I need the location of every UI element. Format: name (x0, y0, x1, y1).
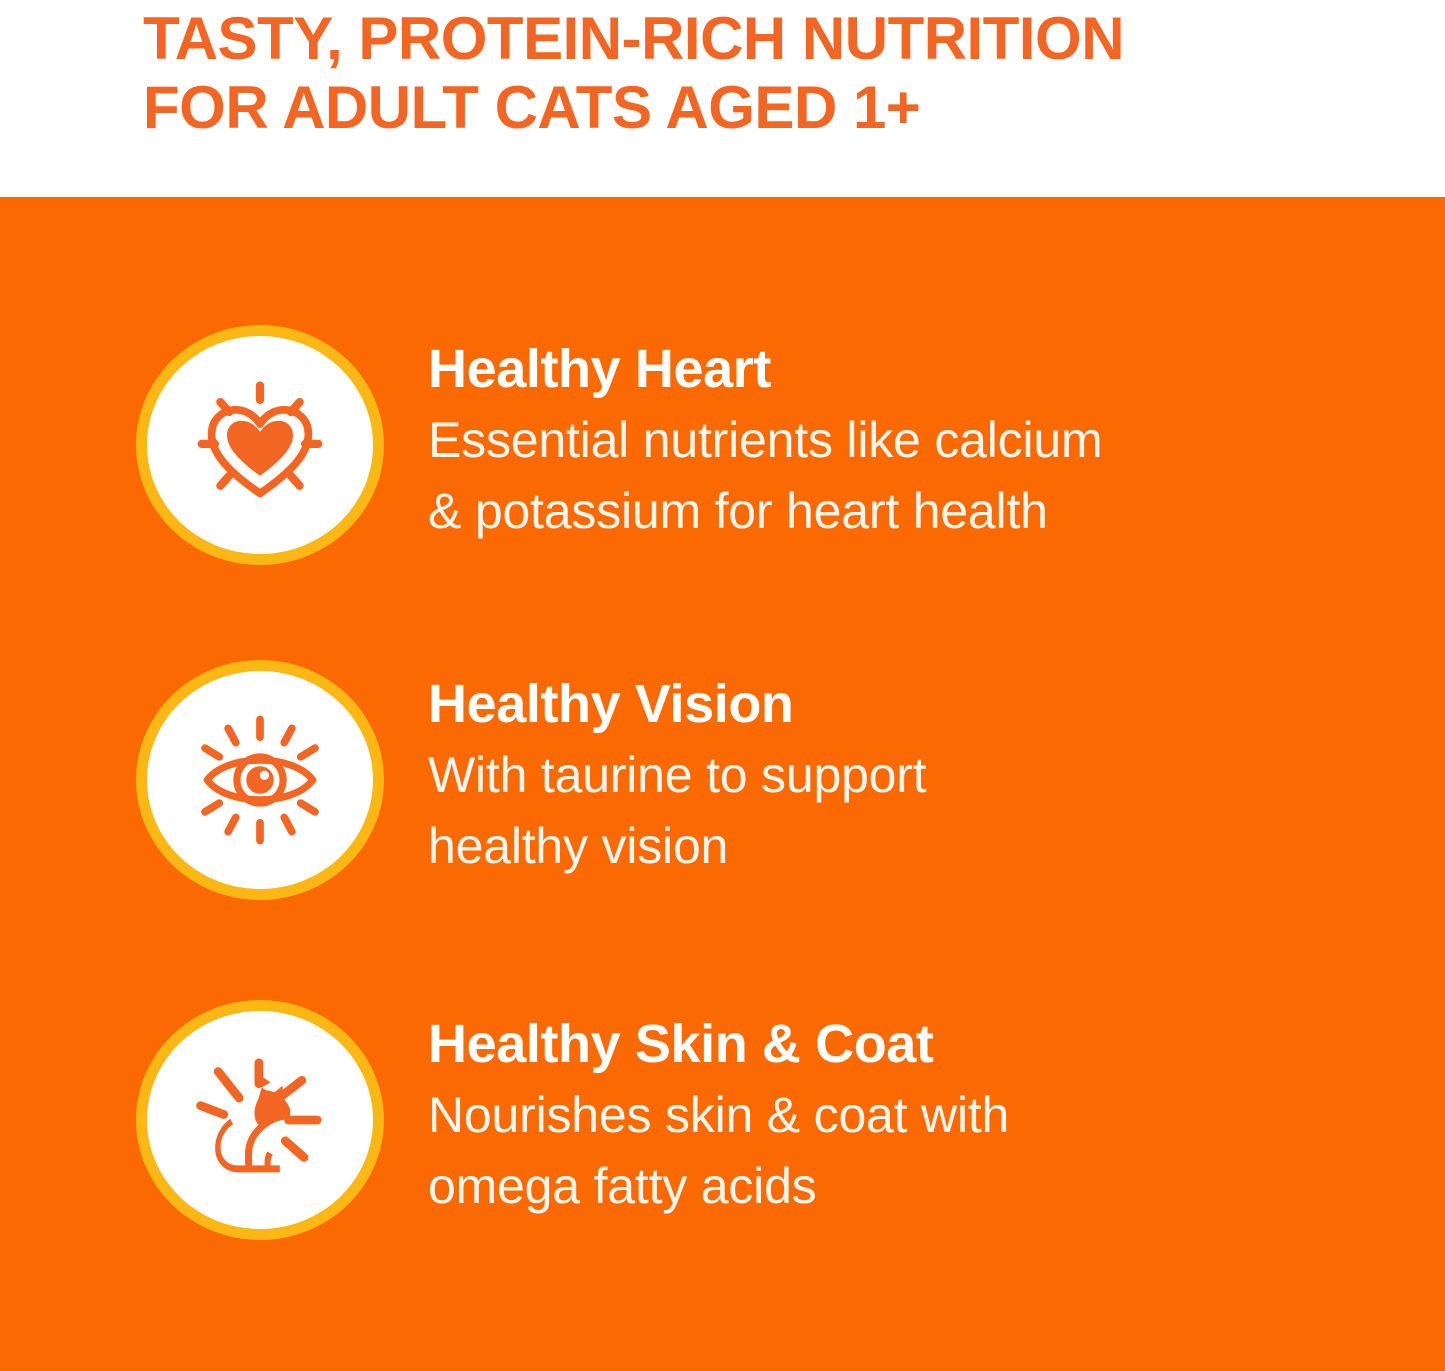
benefit-title: Healthy Skin & Coat (428, 1014, 1328, 1074)
radiant-eye-icon (194, 714, 326, 846)
benefit-title: Healthy Vision (428, 674, 1328, 734)
radiant-heart-icon (194, 379, 326, 511)
benefit-text-block: Healthy Vision With taurine to support h… (428, 660, 1328, 882)
benefit-title: Healthy Heart (428, 339, 1328, 399)
benefit-description: Nourishes skin & coat with omega fatty a… (428, 1080, 1328, 1222)
cat-silhouette (215, 1086, 290, 1173)
benefit-description: Essential nutrients like calcium & potas… (428, 405, 1328, 547)
radiant-cat-icon (194, 1054, 326, 1186)
header-band: TASTY, PROTEIN-RICH NUTRITION FOR ADULT … (0, 0, 1445, 197)
benefit-icon-badge (136, 325, 384, 565)
benefits-panel: Healthy Heart Essential nutrients like c… (0, 197, 1445, 1371)
eye-pupil (246, 766, 274, 794)
benefit-row: Healthy Heart Essential nutrients like c… (0, 325, 1445, 565)
page-title: TASTY, PROTEIN-RICH NUTRITION FOR ADULT … (143, 4, 1385, 142)
product-benefits-panel: TASTY, PROTEIN-RICH NUTRITION FOR ADULT … (0, 0, 1445, 1371)
benefit-icon-badge (136, 1000, 384, 1240)
benefit-text-block: Healthy Skin & Coat Nourishes skin & coa… (428, 1000, 1328, 1222)
benefit-row: Healthy Vision With taurine to support h… (0, 660, 1445, 900)
heart-fill (227, 421, 293, 476)
benefit-description: With taurine to support healthy vision (428, 740, 1328, 882)
benefit-icon-badge (136, 660, 384, 900)
benefit-text-block: Healthy Heart Essential nutrients like c… (428, 325, 1328, 547)
benefit-row: Healthy Skin & Coat Nourishes skin & coa… (0, 1000, 1445, 1240)
